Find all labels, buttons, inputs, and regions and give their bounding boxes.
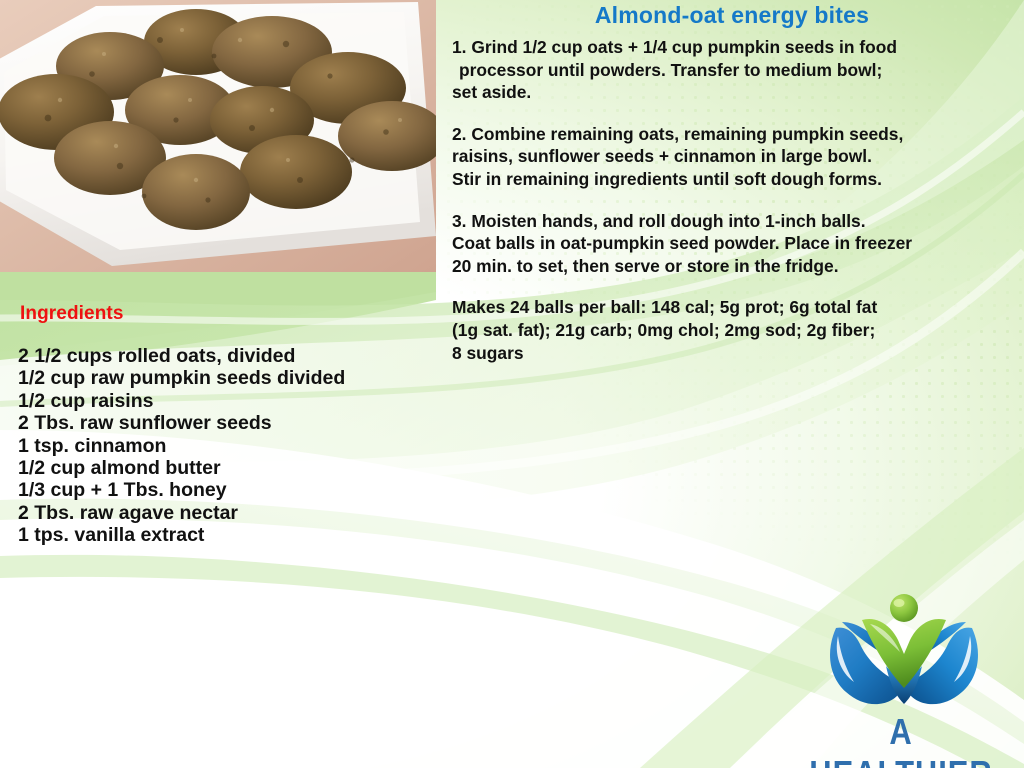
recipe-step-line: set aside.	[452, 81, 1024, 104]
recipe-step-line: 3. Moisten hands, and roll dough into 1-…	[452, 210, 1024, 233]
recipe-step-line: raisins, sunflower seeds + cinnamon in l…	[452, 145, 1024, 168]
recipe-step: 3. Moisten hands, and roll dough into 1-…	[452, 210, 1024, 278]
recipe-step-line: processor until powders. Transfer to med…	[452, 59, 1024, 82]
logo-wordmark: A HEALTHIER ME	[795, 711, 1007, 768]
recipe-card: Almond-oat energy bites 1. Grind 1/2 cup…	[0, 0, 1024, 768]
nutrition-line: (1g sat. fat); 21g carb; 0mg chol; 2mg s…	[452, 319, 1024, 342]
ingredients-heading: Ingredients	[20, 303, 438, 325]
ingredient-item: 1/2 cup almond butter	[18, 457, 438, 479]
recipe-photo	[0, 0, 436, 272]
recipe-step: 1. Grind 1/2 cup oats + 1/4 cup pumpkin …	[452, 36, 1024, 104]
nutrition-info: Makes 24 balls per ball: 148 cal; 5g pro…	[452, 296, 1024, 364]
ingredient-item: 2 1/2 cups rolled oats, divided	[18, 345, 438, 367]
nutrition-line: 8 sugars	[452, 342, 1024, 365]
ingredient-item: 1 tps. vanilla extract	[18, 524, 438, 546]
recipe-step-line: Coat balls in oat-pumpkin seed powder. P…	[452, 232, 1024, 255]
ingredient-item: 1 tsp. cinnamon	[18, 435, 438, 457]
recipe-step-line: Stir in remaining ingredients until soft…	[452, 168, 1024, 191]
recipe-step: 2. Combine remaining oats, remaining pum…	[452, 123, 1024, 191]
ingredient-item: 2 Tbs. raw sunflower seeds	[18, 412, 438, 434]
healthier-me-leaf-person-icon	[824, 592, 984, 714]
ingredient-item: 1/2 cup raw pumpkin seeds divided	[18, 367, 438, 389]
ingredient-item: 2 Tbs. raw agave nectar	[18, 502, 438, 524]
ingredients-section: Ingredients 2 1/2 cups rolled oats, divi…	[18, 303, 438, 547]
nutrition-line: Makes 24 balls per ball: 148 cal; 5g pro…	[452, 296, 1024, 319]
recipe-step-line: 1. Grind 1/2 cup oats + 1/4 cup pumpkin …	[452, 36, 1024, 59]
brand-logo: A HEALTHIER ME	[778, 592, 1024, 760]
recipe-instructions: 1. Grind 1/2 cup oats + 1/4 cup pumpkin …	[452, 36, 1024, 383]
recipe-step-line: 20 min. to set, then serve or store in t…	[452, 255, 1024, 278]
ingredient-item: 1/3 cup + 1 Tbs. honey	[18, 479, 438, 501]
ingredient-item: 1/2 cup raisins	[18, 390, 438, 412]
recipe-step-line: 2. Combine remaining oats, remaining pum…	[452, 123, 1024, 146]
page-title: Almond-oat energy bites	[452, 2, 1012, 29]
